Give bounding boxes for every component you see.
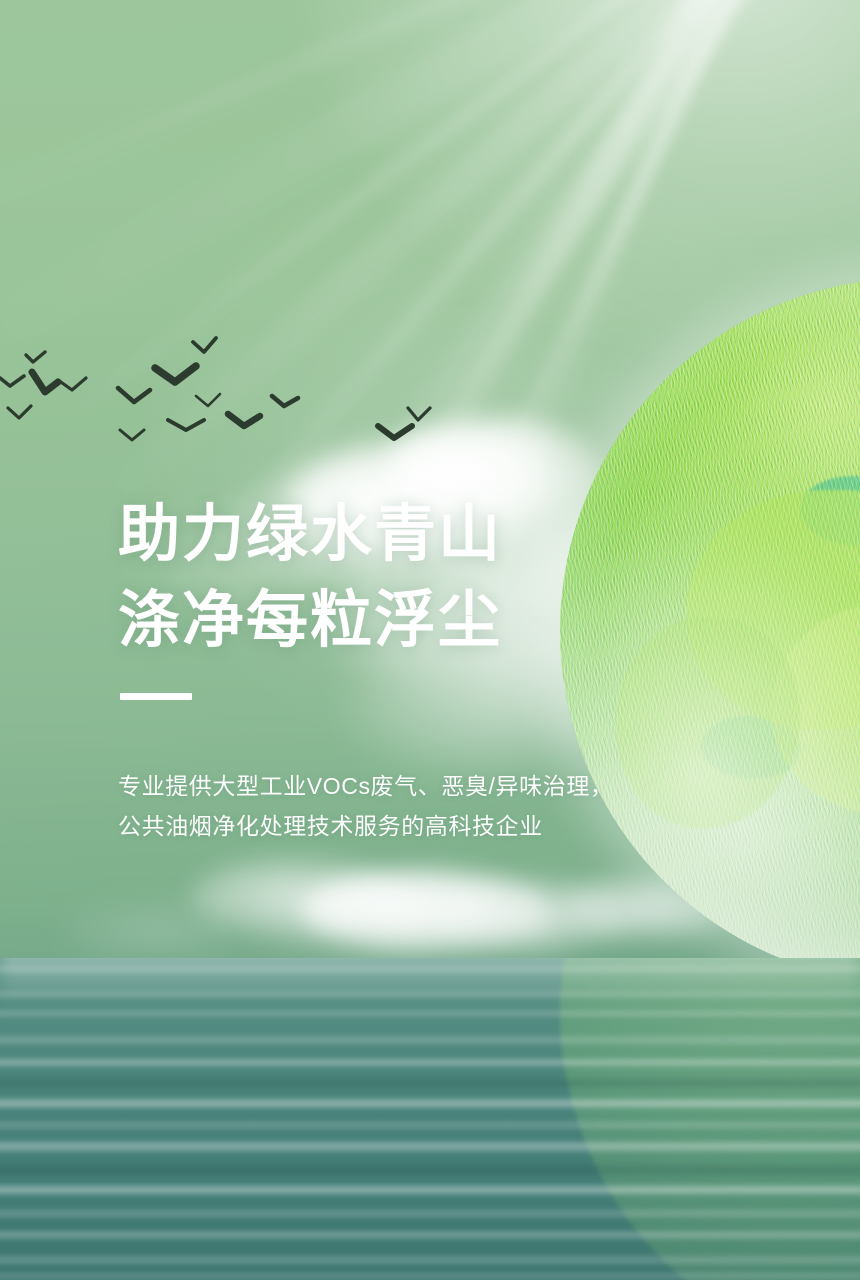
headline-line-2: 涤净每粒浮尘 [118, 578, 502, 664]
copy-block: 助力绿水青山 涤净每粒浮尘 专业提供大型工业VOCs废气、恶臭/异味治理， 公共… [0, 0, 860, 1280]
subtitle-line-2: 公共油烟净化处理技术服务的高科技企业 [118, 806, 614, 846]
headline-line-1: 助力绿水青山 [118, 500, 502, 569]
subtitle: 专业提供大型工业VOCs废气、恶臭/异味治理， 公共油烟净化处理技术服务的高科技… [118, 766, 614, 846]
subtitle-line-1: 专业提供大型工业VOCs废气、恶臭/异味治理， [118, 766, 614, 806]
poster-canvas: 助力绿水青山 涤净每粒浮尘 专业提供大型工业VOCs废气、恶臭/异味治理， 公共… [0, 0, 860, 1280]
title-divider [120, 693, 192, 700]
page-title: 助力绿水青山 涤净每粒浮尘 [118, 492, 502, 664]
